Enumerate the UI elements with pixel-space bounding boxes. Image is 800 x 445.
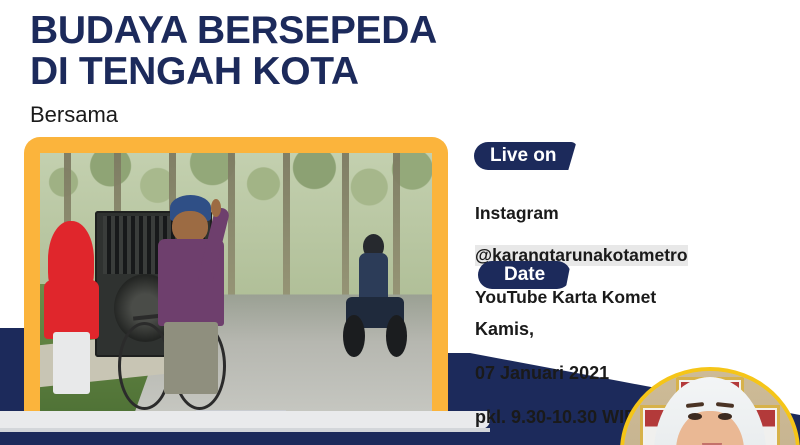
photo-woman-red-hijab <box>44 221 99 394</box>
laptop-screen <box>24 137 448 415</box>
date-day: Kamis, <box>475 318 637 340</box>
date-details: Kamis, 07 Januari 2021 pkl. 9.30-10.30 W… <box>475 296 637 445</box>
event-photo <box>40 153 432 415</box>
laptop-base <box>0 411 490 429</box>
avatar-eye <box>718 413 732 420</box>
live-on-badge: Live on <box>474 142 577 170</box>
date-badge: Date <box>478 261 571 289</box>
live-platform: Instagram <box>475 203 688 224</box>
photo-motorcyclist <box>342 253 409 358</box>
laptop-base-shadow <box>0 428 490 432</box>
date-time: pkl. 9.30-10.30 WIB <box>475 406 637 428</box>
page-title: BUDAYA BERSEPEDA DI TENGAH KOTA <box>30 10 500 92</box>
date-full: 07 Januari 2021 <box>475 362 637 384</box>
avatar-eye <box>688 413 702 420</box>
avatar <box>620 367 800 445</box>
poster-canvas: BUDAYA BERSEPEDA DI TENGAH KOTA Bersama <box>0 0 800 445</box>
page-subtitle: Bersama <box>30 103 118 127</box>
photo-man-waving <box>158 195 225 394</box>
